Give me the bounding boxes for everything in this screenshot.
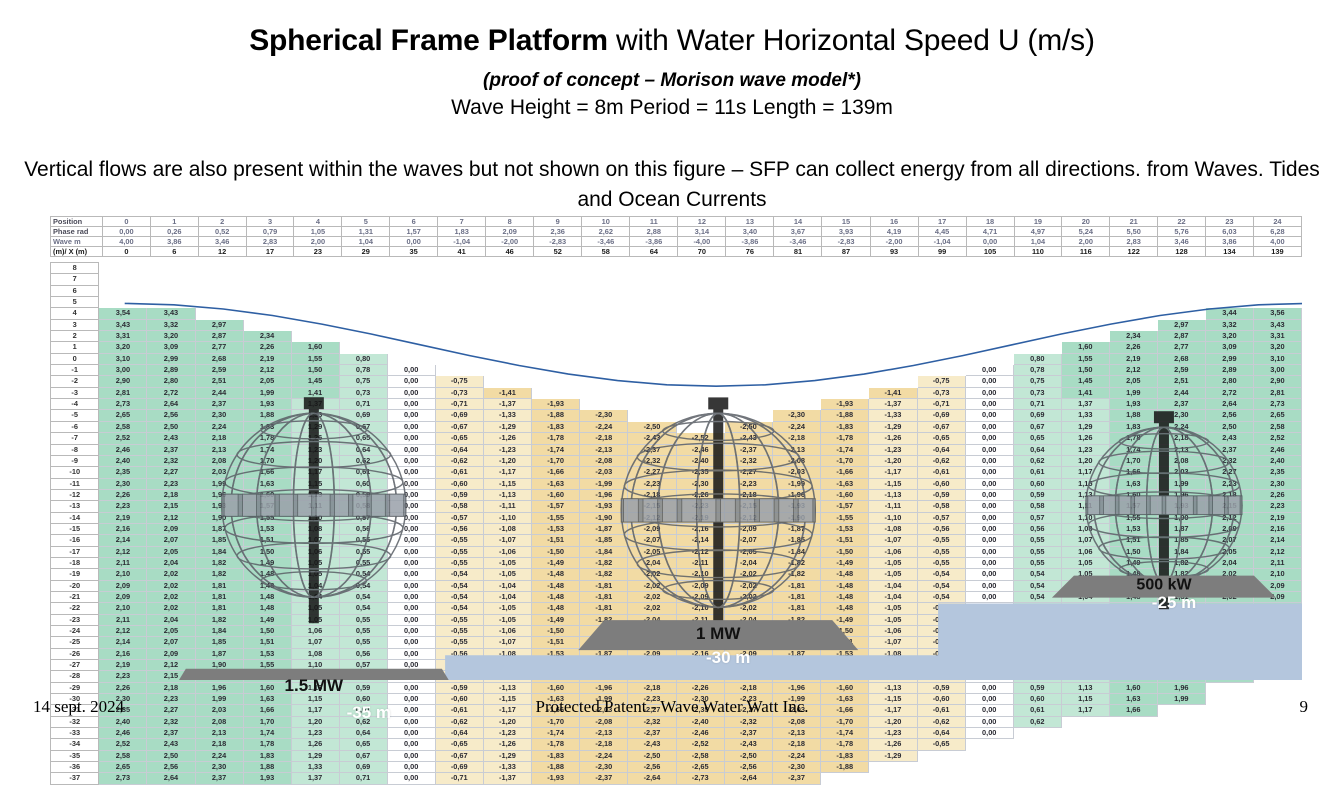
velocity-cell: 2,07 [147,535,195,546]
velocity-cell: 1,29 [1061,421,1109,432]
depth-axis-cell: -33 [51,728,99,739]
depth-axis-cell: -14 [51,512,99,523]
velocity-cell: -1,37 [483,399,531,410]
velocity-cell: -0,55 [435,546,483,557]
empty-cell [724,319,772,330]
empty-cell [1205,773,1253,784]
velocity-cell: -0,54 [435,591,483,602]
velocity-cell: -2,18 [772,433,820,444]
empty-cell [243,285,291,296]
velocity-cell: 0,00 [387,728,435,739]
empty-cell [821,365,869,376]
empty-cell [676,410,724,421]
velocity-cell: -2,04 [628,557,676,568]
velocity-cell: 0,00 [965,546,1013,557]
velocity-cell: 1,11 [1061,671,1109,682]
header-cell: 5 [342,217,390,227]
velocity-cell: 2,40 [99,455,147,466]
header-cell: 10 [582,217,630,227]
velocity-cell: 0,00 [387,557,435,568]
velocity-cell: 2,23 [147,478,195,489]
velocity-cell: 3,10 [99,353,147,364]
velocity-cell: -1,29 [483,750,531,761]
header-cell: -3,86 [726,237,774,247]
empty-cell [917,353,965,364]
empty-cell [772,297,820,308]
empty-cell [965,342,1013,353]
velocity-cell: -1,99 [580,478,628,489]
empty-cell [772,399,820,410]
header-cell: 17 [246,247,294,257]
depth-axis-cell: -17 [51,546,99,557]
header-cell: 0,26 [150,227,198,237]
empty-cell [772,376,820,387]
empty-cell [1253,285,1301,296]
velocity-cell: 1,37 [291,773,339,784]
velocity-cell: -2,23 [676,501,724,512]
depth-axis-cell: -6 [51,421,99,432]
velocity-cell: -2,18 [628,489,676,500]
header-cell: 0 [102,247,150,257]
velocity-cell: 1,05 [291,603,339,614]
velocity-cell: 1,96 [195,489,243,500]
velocity-cell: -2,12 [676,546,724,557]
velocity-cell: 3,56 [1253,308,1301,319]
depth-axis-cell: -16 [51,535,99,546]
velocity-cell: 2,23 [99,501,147,512]
velocity-cell: 1,99 [1157,478,1205,489]
empty-cell [1061,297,1109,308]
velocity-cell: 2,07 [1205,535,1253,546]
velocity-cell: -0,55 [917,546,965,557]
velocity-cell: -0,75 [435,376,483,387]
velocity-cell: 1,70 [1109,455,1157,466]
header-cell: -2,00 [870,237,918,247]
velocity-cell: 2,72 [1205,387,1253,398]
velocity-cell: -1,74 [821,444,869,455]
empty-cell [1013,773,1061,784]
velocity-cell: -1,05 [483,557,531,568]
empty-cell [676,376,724,387]
velocity-cell: -0,71 [917,399,965,410]
velocity-cell: 1,37 [291,399,339,410]
velocity-cell: 0,00 [387,762,435,773]
velocity-cell: 0,00 [965,467,1013,478]
header-cell: 3 [246,217,294,227]
velocity-cell: -1,99 [772,478,820,489]
depth-axis-cell: -10 [51,467,99,478]
velocity-cell: 0,00 [965,478,1013,489]
velocity-cell: -2,24 [772,750,820,761]
page-title-rest: with Water Horizontal Speed U (m/s) [608,24,1095,57]
velocity-cell: 2,40 [1253,455,1301,466]
velocity-cell: -1,10 [869,512,917,523]
velocity-cell: 0,69 [339,410,387,421]
velocity-cell: -0,56 [435,523,483,534]
velocity-cell: -2,23 [724,478,772,489]
velocity-cell: 0,00 [387,489,435,500]
velocity-cell: 0,75 [1013,376,1061,387]
velocity-cell: -2,37 [628,728,676,739]
velocity-cell: 0,00 [965,376,1013,387]
empty-cell [724,274,772,285]
empty-cell [821,773,869,784]
empty-cell [435,308,483,319]
empty-cell [532,365,580,376]
empty-cell [483,263,531,274]
velocity-cell: 3,20 [147,331,195,342]
header-cell: 58 [582,247,630,257]
velocity-cell: 2,09 [1205,523,1253,534]
velocity-cell: -2,11 [676,557,724,568]
velocity-cell: 2,02 [147,603,195,614]
header-cell: 4,45 [918,227,966,237]
velocity-cell: 2,24 [195,421,243,432]
velocity-cell: 2,11 [1253,557,1301,568]
table-row: -112,302,231,991,631,150,600,00-0,60-1,1… [51,478,1302,489]
empty-cell [1157,728,1205,739]
velocity-cell: 2,23 [1205,478,1253,489]
velocity-cell: 1,23 [291,444,339,455]
velocity-cell: -2,24 [580,750,628,761]
velocity-cell: -1,05 [483,603,531,614]
velocity-cell: 1,96 [1157,682,1205,693]
velocity-cell: 1,55 [291,353,339,364]
header-cell: 87 [822,247,870,257]
header-cell: 5,76 [1158,227,1206,237]
table-row: -72,522,432,181,781,260,650,00-0,65-1,26… [51,433,1302,444]
empty-cell [195,263,243,274]
slide: Spherical Frame Platform with Water Hori… [0,0,1344,745]
empty-cell [917,263,965,274]
depth-axis-cell: 4 [51,308,99,319]
velocity-cell: -0,59 [917,489,965,500]
velocity-cell: 1,83 [243,421,291,432]
header-cell: 116 [1062,247,1110,257]
header-cell: -3,46 [582,237,630,247]
empty-cell [772,308,820,319]
velocity-cell: 2,64 [147,399,195,410]
velocity-cell: 2,50 [147,421,195,432]
velocity-cell: 1,33 [291,410,339,421]
empty-cell [435,285,483,296]
table-row: -62,582,502,241,831,290,670,00-0,67-1,29… [51,421,1302,432]
empty-cell [1013,274,1061,285]
velocity-cell: 1,57 [243,501,291,512]
header-cell: 2,88 [630,227,678,237]
empty-cell [1157,773,1205,784]
velocity-cell: -1,88 [532,410,580,421]
velocity-cell: -2,07 [628,535,676,546]
velocity-cell: 1,20 [1061,455,1109,466]
velocity-cell: 2,16 [99,523,147,534]
empty-cell [99,285,147,296]
empty-cell [387,319,435,330]
velocity-cell: 0,55 [1013,535,1061,546]
velocity-cell: -1,10 [483,512,531,523]
velocity-cell: -0,69 [917,410,965,421]
velocity-cell: -2,56 [724,762,772,773]
velocity-cell: 1,74 [243,728,291,739]
velocity-cell: 0,61 [339,467,387,478]
velocity-cell: 2,14 [1253,535,1301,546]
velocity-cell: 2,52 [1253,433,1301,444]
velocity-cell: 1,53 [1109,523,1157,534]
header-cell: 12 [678,217,726,227]
velocity-cell: 1,83 [1109,421,1157,432]
velocity-cell: 0,67 [1013,421,1061,432]
empty-cell [1253,671,1301,682]
velocity-cell: 0,65 [339,433,387,444]
velocity-cell: 1,05 [1061,557,1109,568]
velocity-cell: 2,12 [1253,546,1301,557]
empty-cell [1253,297,1301,308]
velocity-cell: 2,81 [99,387,147,398]
velocity-cell: -2,05 [628,546,676,557]
velocity-cell: -0,69 [435,762,483,773]
header-cell: 12 [198,247,246,257]
velocity-cell: 0,00 [965,387,1013,398]
depth-axis-cell: -37 [51,773,99,784]
empty-cell [291,263,339,274]
velocity-cell: -1,06 [483,546,531,557]
velocity-cell: 0,00 [965,444,1013,455]
empty-cell [676,342,724,353]
velocity-cell: -2,30 [580,762,628,773]
velocity-cell: 2,23 [1253,501,1301,512]
velocity-cell: 2,65 [1253,410,1301,421]
velocity-cell: -2,46 [676,728,724,739]
velocity-cell: -1,63 [532,478,580,489]
depth-axis-cell: -13 [51,501,99,512]
velocity-cell: 2,32 [147,455,195,466]
empty-cell [917,750,965,761]
velocity-cell: 1,29 [291,421,339,432]
velocity-cell: -2,32 [628,455,676,466]
header-cell: -3,86 [630,237,678,247]
velocity-cell: -2,13 [580,728,628,739]
velocity-cell: 2,09 [99,580,147,591]
table-row: -32,812,722,441,991,410,730,00-0,73-1,41… [51,387,1302,398]
velocity-cell: -2,46 [676,444,724,455]
velocity-cell: 0,62 [339,455,387,466]
velocity-cell: 1,23 [291,728,339,739]
empty-cell [580,274,628,285]
velocity-cell: 2,56 [1205,410,1253,421]
empty-cell [1157,750,1205,761]
velocity-cell: 0,00 [387,376,435,387]
velocity-cell: -2,40 [676,455,724,466]
header-cell: 0,00 [966,237,1014,247]
header-cell: 3,93 [822,227,870,237]
empty-cell [628,285,676,296]
empty-cell [387,353,435,364]
empty-cell [869,376,917,387]
empty-cell [580,353,628,364]
velocity-cell: -1,20 [483,455,531,466]
velocity-cell: -1,51 [532,535,580,546]
empty-cell [772,353,820,364]
velocity-cell: -2,64 [724,773,772,784]
header-cell: 2,36 [534,227,582,237]
header-cell: -2,83 [822,237,870,247]
velocity-cell: 2,04 [147,557,195,568]
empty-cell [724,263,772,274]
velocity-cell: 3,00 [1253,365,1301,376]
empty-cell [917,331,965,342]
velocity-cell: -2,18 [724,489,772,500]
velocity-cell: -1,90 [772,512,820,523]
velocity-cell: 1,87 [1157,523,1205,534]
velocity-cell: -1,13 [869,489,917,500]
velocity-cell: -1,37 [869,399,917,410]
table-row: -82,462,372,131,741,230,640,00-0,64-1,23… [51,444,1302,455]
depth-axis-cell: -26 [51,648,99,659]
velocity-cell: 2,58 [99,421,147,432]
velocity-cell: 2,18 [1157,433,1205,444]
header-cell: 19 [1014,217,1062,227]
empty-cell [772,365,820,376]
header-row-label: Wave m [51,237,103,247]
empty-cell [195,274,243,285]
velocity-cell: -1,82 [772,557,820,568]
empty-cell [147,263,195,274]
velocity-cell: -1,51 [821,535,869,546]
empty-cell [821,285,869,296]
velocity-cell: 1,15 [1061,478,1109,489]
velocity-cell: 2,46 [99,728,147,739]
empty-cell [580,342,628,353]
empty-cell [483,365,531,376]
empty-cell [435,353,483,364]
velocity-cell: 1,51 [1109,535,1157,546]
empty-cell [628,387,676,398]
velocity-cell: 0,58 [1013,671,1061,682]
velocity-cell: 2,27 [147,467,195,478]
velocity-cell: 0,71 [339,773,387,784]
velocity-cell: 0,69 [339,762,387,773]
velocity-cell: 2,64 [1205,399,1253,410]
velocity-cell: -2,05 [724,546,772,557]
footer-center-text: Protected Patent - Wave Water Watt Inc. [0,697,1344,717]
velocity-cell: -1,93 [532,399,580,410]
empty-cell [772,319,820,330]
velocity-cell: -1,63 [821,478,869,489]
velocity-cell: -1,11 [869,501,917,512]
empty-cell [147,285,195,296]
header-cell: 8 [486,217,534,227]
velocity-cell: -1,33 [483,762,531,773]
velocity-cell: 1,78 [243,433,291,444]
empty-cell [580,365,628,376]
depth-axis-cell: -18 [51,557,99,568]
velocity-cell: -1,66 [532,467,580,478]
velocity-cell: 1,48 [243,569,291,580]
empty-cell [483,274,531,285]
header-cell: 5,50 [1110,227,1158,237]
empty-cell [821,274,869,285]
empty-cell [291,297,339,308]
velocity-cell: -0,71 [435,773,483,784]
velocity-cell: -1,93 [772,501,820,512]
empty-cell [532,274,580,285]
empty-cell [580,387,628,398]
velocity-cell: 0,00 [387,546,435,557]
header-cell: 0,79 [246,227,294,237]
velocity-cell: 0,65 [1013,433,1061,444]
empty-cell [1205,762,1253,773]
velocity-cell: -2,37 [580,773,628,784]
table-row: 13,203,092,772,261,601,602,262,773,093,2… [51,342,1302,353]
velocity-cell: -1,49 [532,557,580,568]
header-cell: 4,97 [1014,227,1062,237]
depth-axis-cell: -11 [51,478,99,489]
velocity-cell: -2,50 [628,750,676,761]
velocity-cell: 2,90 [1253,376,1301,387]
empty-cell [291,319,339,330]
empty-cell [724,342,772,353]
header-cell: 99 [918,247,966,257]
empty-cell [1061,773,1109,784]
empty-cell [532,285,580,296]
velocity-cell: 0,00 [965,557,1013,568]
header-cell: 128 [1158,247,1206,257]
table-row: -122,262,181,961,601,130,590,00-0,59-1,1… [51,489,1302,500]
empty-cell [339,285,387,296]
velocity-cell: 2,58 [99,750,147,761]
velocity-cell: 1,60 [291,342,339,353]
empty-cell [532,376,580,387]
velocity-cell: -2,30 [772,410,820,421]
velocity-cell: -2,32 [724,455,772,466]
header-cell: 17 [918,217,966,227]
velocity-cell: -1,57 [532,501,580,512]
empty-cell [339,274,387,285]
header-cell: 1,04 [1014,237,1062,247]
velocity-cell: 0,71 [1013,399,1061,410]
velocity-cell: 2,27 [1205,467,1253,478]
velocity-cell: -1,87 [772,523,820,534]
velocity-cell: 1,74 [1109,444,1157,455]
header-cell: 70 [678,247,726,257]
velocity-cell: 0,80 [1013,353,1061,364]
header-cell: 6 [150,247,198,257]
velocity-cell: -2,37 [628,444,676,455]
velocity-cell: 2,15 [147,501,195,512]
empty-cell [869,263,917,274]
velocity-cell: 0,78 [1013,365,1061,376]
empty-cell [724,387,772,398]
table-row: 33,433,322,972,973,323,43 [51,319,1302,330]
header-cell: 0,00 [390,237,438,247]
empty-cell [676,285,724,296]
velocity-cell: 0,00 [387,365,435,376]
empty-cell [965,319,1013,330]
velocity-cell: 2,13 [1157,444,1205,455]
header-cell: 18 [966,217,1014,227]
velocity-cell: -0,60 [917,478,965,489]
velocity-cell: 1,99 [243,387,291,398]
velocity-cell: 0,59 [1013,682,1061,693]
velocity-cell: -1,41 [483,387,531,398]
velocity-cell: 1,82 [195,569,243,580]
header-cell: 13 [726,217,774,227]
velocity-cell: -1,23 [869,728,917,739]
velocity-cell: -1,83 [532,750,580,761]
velocity-cell: 2,24 [1157,421,1205,432]
velocity-cell: 0,00 [387,603,435,614]
velocity-cell: 0,00 [387,591,435,602]
